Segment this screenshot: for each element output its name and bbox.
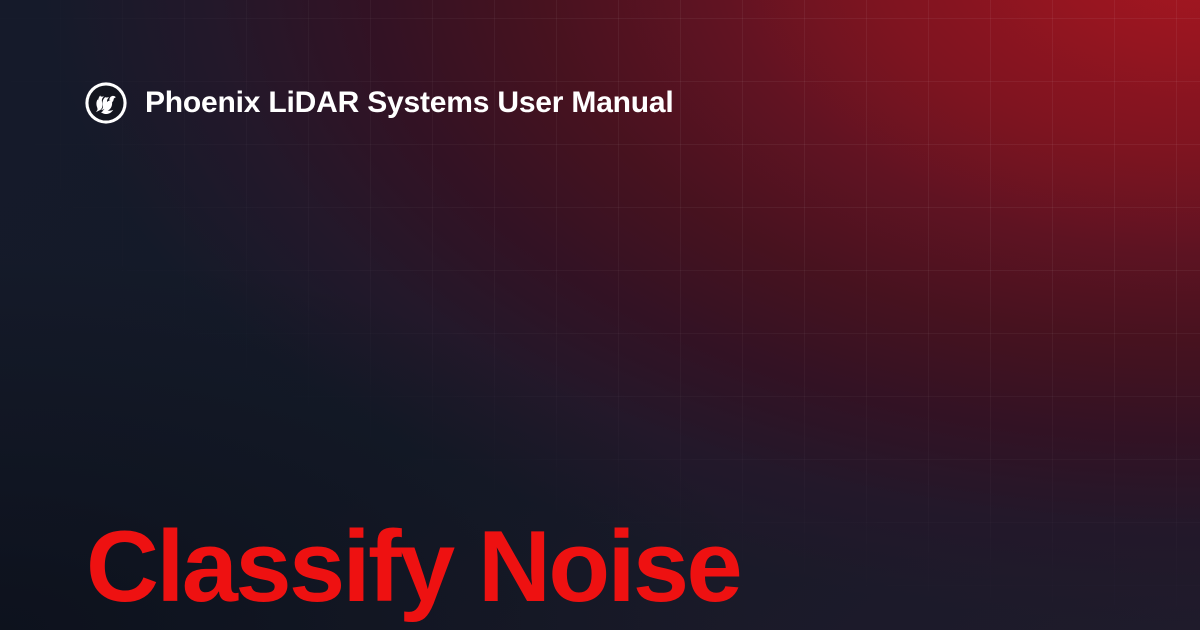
brand-lockup: Phoenix LiDAR Systems User Manual <box>84 81 674 125</box>
phoenix-bird-icon <box>84 81 128 125</box>
page-title: Classify Noise <box>86 517 740 618</box>
manual-cover-banner: Phoenix LiDAR Systems User Manual Classi… <box>0 0 1200 630</box>
brand-title: Phoenix LiDAR Systems User Manual <box>145 88 674 118</box>
banner-content: Phoenix LiDAR Systems User Manual Classi… <box>0 0 1200 630</box>
